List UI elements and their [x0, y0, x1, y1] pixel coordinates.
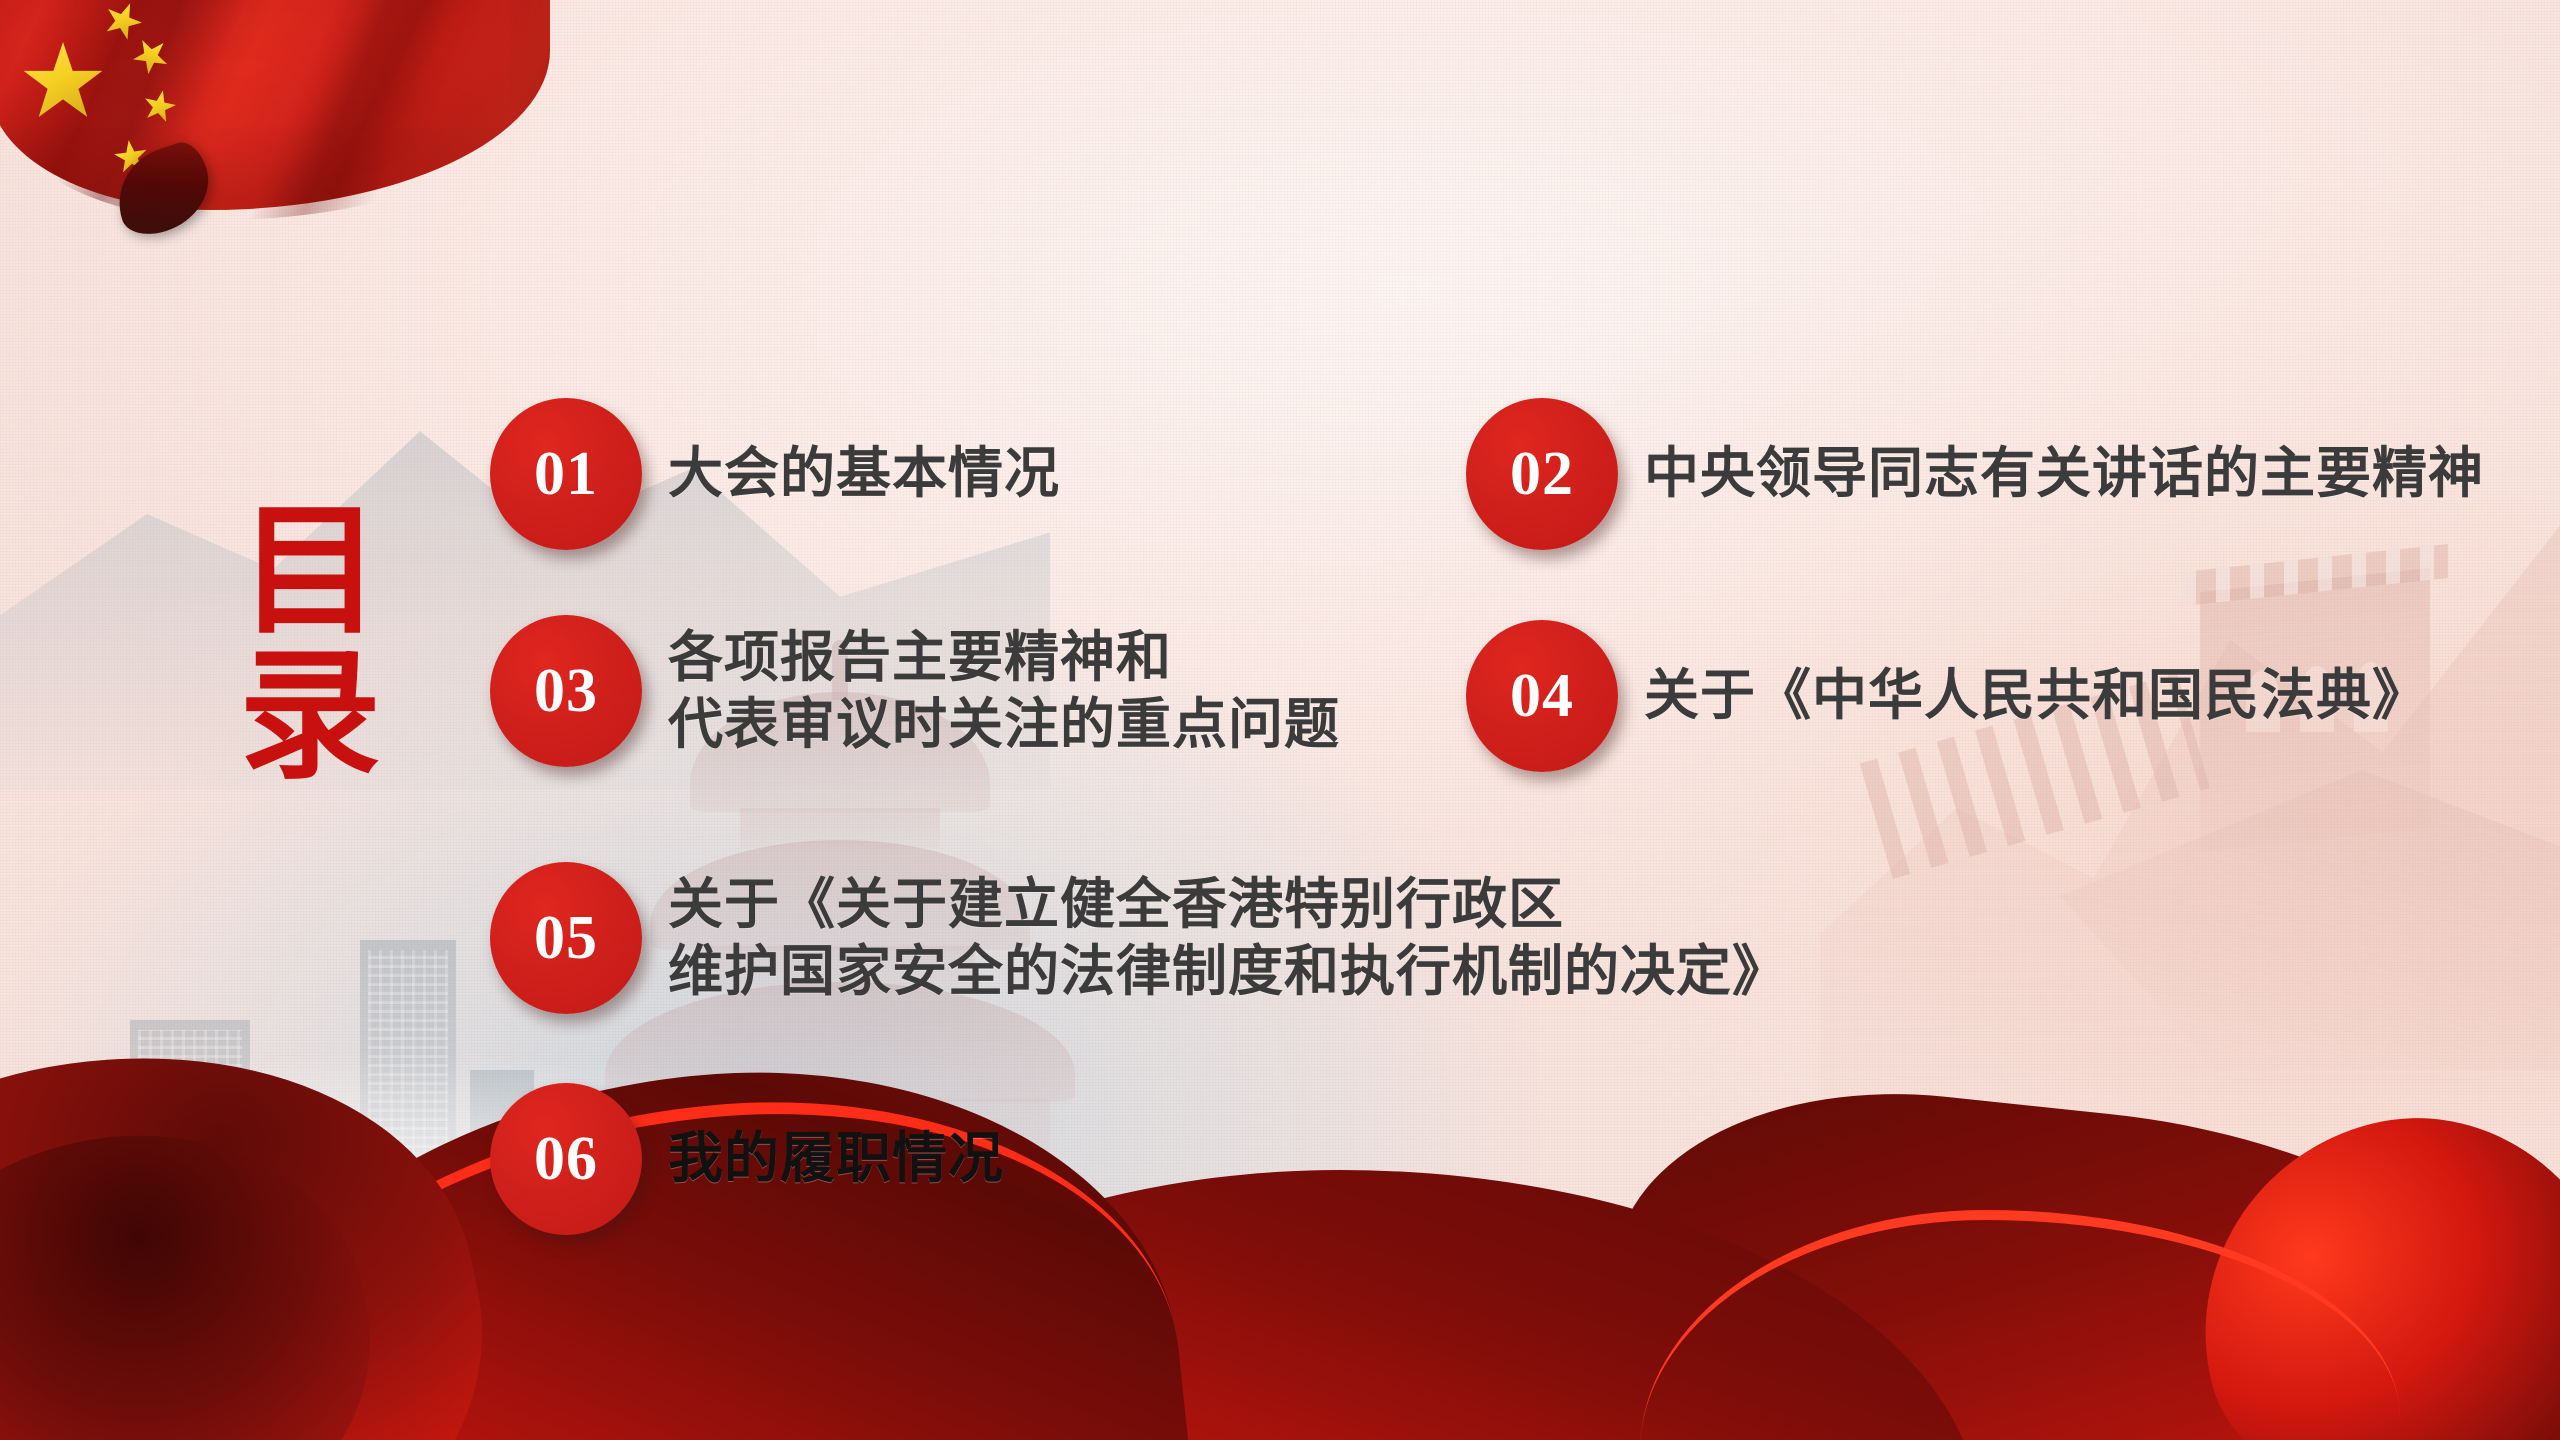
red-ribbon-decoration	[0, 1080, 2560, 1440]
toc-item-label-06[interactable]: 我的履职情况	[668, 1125, 1004, 1192]
page-title: 目 录	[215, 500, 405, 790]
toc-number-badge-06[interactable]: 06	[490, 1083, 642, 1235]
page-title-char-1: 目	[215, 500, 405, 645]
toc-item-label-04[interactable]: 关于《中华人民共和国民法典》	[1644, 662, 2428, 729]
toc-number-badge-03[interactable]: 03	[490, 615, 642, 767]
toc-item-03[interactable]: 03 各项报告主要精神和 代表审议时关注的重点问题	[490, 615, 1340, 767]
toc-item-label-03[interactable]: 各项报告主要精神和 代表审议时关注的重点问题	[668, 624, 1340, 758]
toc-item-02[interactable]: 02 中央领导同志有关讲话的主要精神	[1466, 398, 2484, 550]
toc-number-badge-01[interactable]: 01	[490, 398, 642, 550]
toc-item-05[interactable]: 05 关于《关于建立健全香港特别行政区 维护国家安全的法律制度和执行机制的决定》	[490, 862, 1788, 1014]
toc-number-badge-05[interactable]: 05	[490, 862, 642, 1014]
toc-item-label-05[interactable]: 关于《关于建立健全香港特别行政区 维护国家安全的法律制度和执行机制的决定》	[668, 871, 1788, 1005]
toc-item-label-02[interactable]: 中央领导同志有关讲话的主要精神	[1644, 440, 2484, 507]
toc-item-06[interactable]: 06 我的履职情况	[490, 1083, 1004, 1235]
toc-item-04[interactable]: 04 关于《中华人民共和国民法典》	[1466, 620, 2428, 772]
toc-item-label-01[interactable]: 大会的基本情况	[668, 440, 1060, 507]
toc-number-badge-04[interactable]: 04	[1466, 620, 1618, 772]
china-flag	[0, 0, 540, 210]
page-title-char-2: 录	[215, 645, 405, 790]
toc-number-badge-02[interactable]: 02	[1466, 398, 1618, 550]
toc-item-01[interactable]: 01 大会的基本情况	[490, 398, 1060, 550]
slide-canvas: 目 录 01 大会的基本情况 02 中央领导同志有关讲话的主要精神 03 各项报…	[0, 0, 2560, 1440]
